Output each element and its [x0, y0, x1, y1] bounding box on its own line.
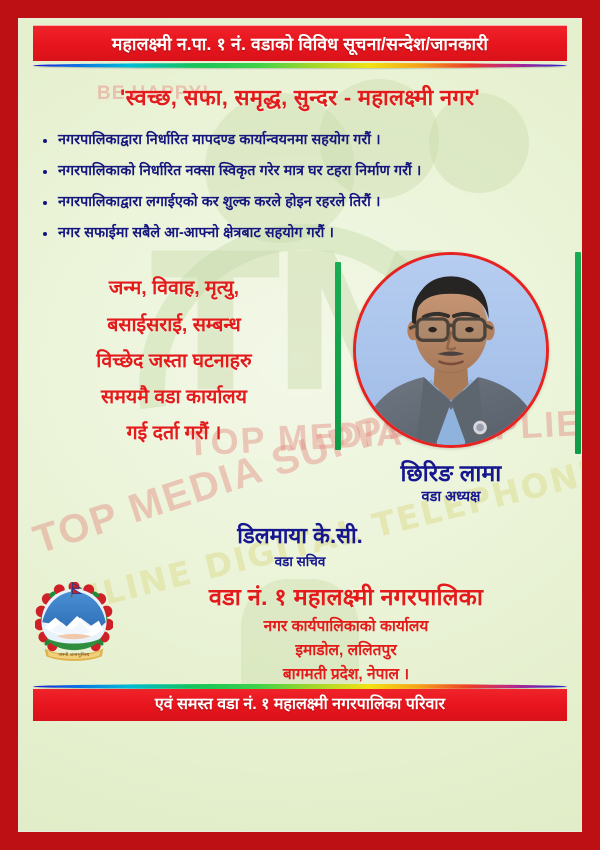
chairperson-name: छिरिङ लामा — [337, 456, 565, 488]
registration-message-line: बसाईसराई, सम्बन्ध — [19, 307, 329, 343]
registration-message-line: जन्म, विवाह, मृत्यु, — [19, 270, 329, 306]
list-item-label: नगरपालिकाको निर्धारित नक्सा स्विकृत गरेर… — [58, 163, 565, 181]
list-item-label: नगर सफाईमा सबैले आ-आफ्नो क्षेत्रबाट सहयो… — [58, 225, 565, 243]
list-item: नगरपालिकाको निर्धारित नक्सा स्विकृत गरेर… — [37, 163, 565, 181]
office-name: वडा नं. १ महालक्ष्मी नगरपालिका — [115, 580, 577, 612]
slogan: 'स्वच्छ, सफा, समृद्ध, सुन्दर - महालक्ष्म… — [19, 82, 581, 112]
list-item-label: नगरपालिकाद्वारा निर्धारित मापदण्ड कार्या… — [58, 132, 565, 150]
bottom-band: एवं समस्त वडा नं. १ महालक्ष्मी नगरपालिका… — [33, 689, 567, 721]
registration-message-line: समयमै वडा कार्यालय — [19, 379, 329, 415]
bullet-dot-icon — [43, 139, 47, 143]
green-divider-right — [575, 252, 581, 454]
registration-message-line: गई दर्ता गरौं । — [19, 415, 329, 451]
list-item-label: नगरपालिकाद्वारा लगाईएको कर शुल्क करले हो… — [58, 194, 565, 212]
registration-message-line: विच्छेद जस्ता घटनाहरु — [19, 343, 329, 379]
secretary-name: डिलमाया के.सी. — [19, 520, 581, 550]
chairperson-avatar — [353, 252, 549, 448]
middle-section: जन्म, विवाह, मृत्यु, बसाईसराई, सम्बन्ध व… — [19, 256, 581, 518]
office-line-4: बागमती प्रदेश, नेपाल । — [115, 662, 577, 684]
chairperson-photo — [356, 255, 546, 445]
secretary-role: वडा सचिव — [19, 552, 581, 570]
list-item: नगरपालिकाद्वारा निर्धारित मापदण्ड कार्या… — [37, 132, 565, 150]
registration-message: जन्म, विवाह, मृत्यु, बसाईसराई, सम्बन्ध व… — [19, 270, 329, 450]
bullet-dot-icon — [43, 201, 47, 205]
list-item: नगरपालिकाद्वारा लगाईएको कर शुल्क करले हो… — [37, 194, 565, 212]
green-divider-left — [335, 262, 341, 450]
bullet-dot-icon — [43, 170, 47, 174]
office-line-3: इमाडोल, ललितपुर — [115, 638, 577, 660]
poster-card: BE HAPPY! TM TOP MEDIA SUPPLIERS TOP MED… — [18, 18, 582, 832]
poster: BE HAPPY! TM TOP MEDIA SUPPLIERS TOP MED… — [0, 0, 600, 850]
chairperson-role: वडा अध्यक्ष — [337, 486, 565, 506]
bullet-dot-icon — [43, 232, 47, 236]
office-line-2: नगर कार्यपालिकाको कार्यालय — [115, 614, 577, 636]
title-band: महालक्ष्मी न.पा. १ नं. वडाको विविध सूचना… — [33, 25, 567, 61]
nepal-emblem-icon: जननी जन्मभूमिश्च — [35, 582, 113, 664]
office-footer: जननी जन्मभूमिश्च वडा नं. १ महालक्ष्मी नग… — [19, 580, 581, 682]
notice-bullet-list: नगरपालिकाद्वारा निर्धारित मापदण्ड कार्या… — [37, 132, 565, 242]
office-address: वडा नं. १ महालक्ष्मी नगरपालिका नगर कार्य… — [115, 580, 577, 684]
list-item: नगर सफाईमा सबैले आ-आफ्नो क्षेत्रबाट सहयो… — [37, 225, 565, 243]
rainbow-divider-top — [33, 63, 567, 68]
svg-text:जननी जन्मभूमिश्च: जननी जन्मभूमिश्च — [58, 652, 89, 659]
